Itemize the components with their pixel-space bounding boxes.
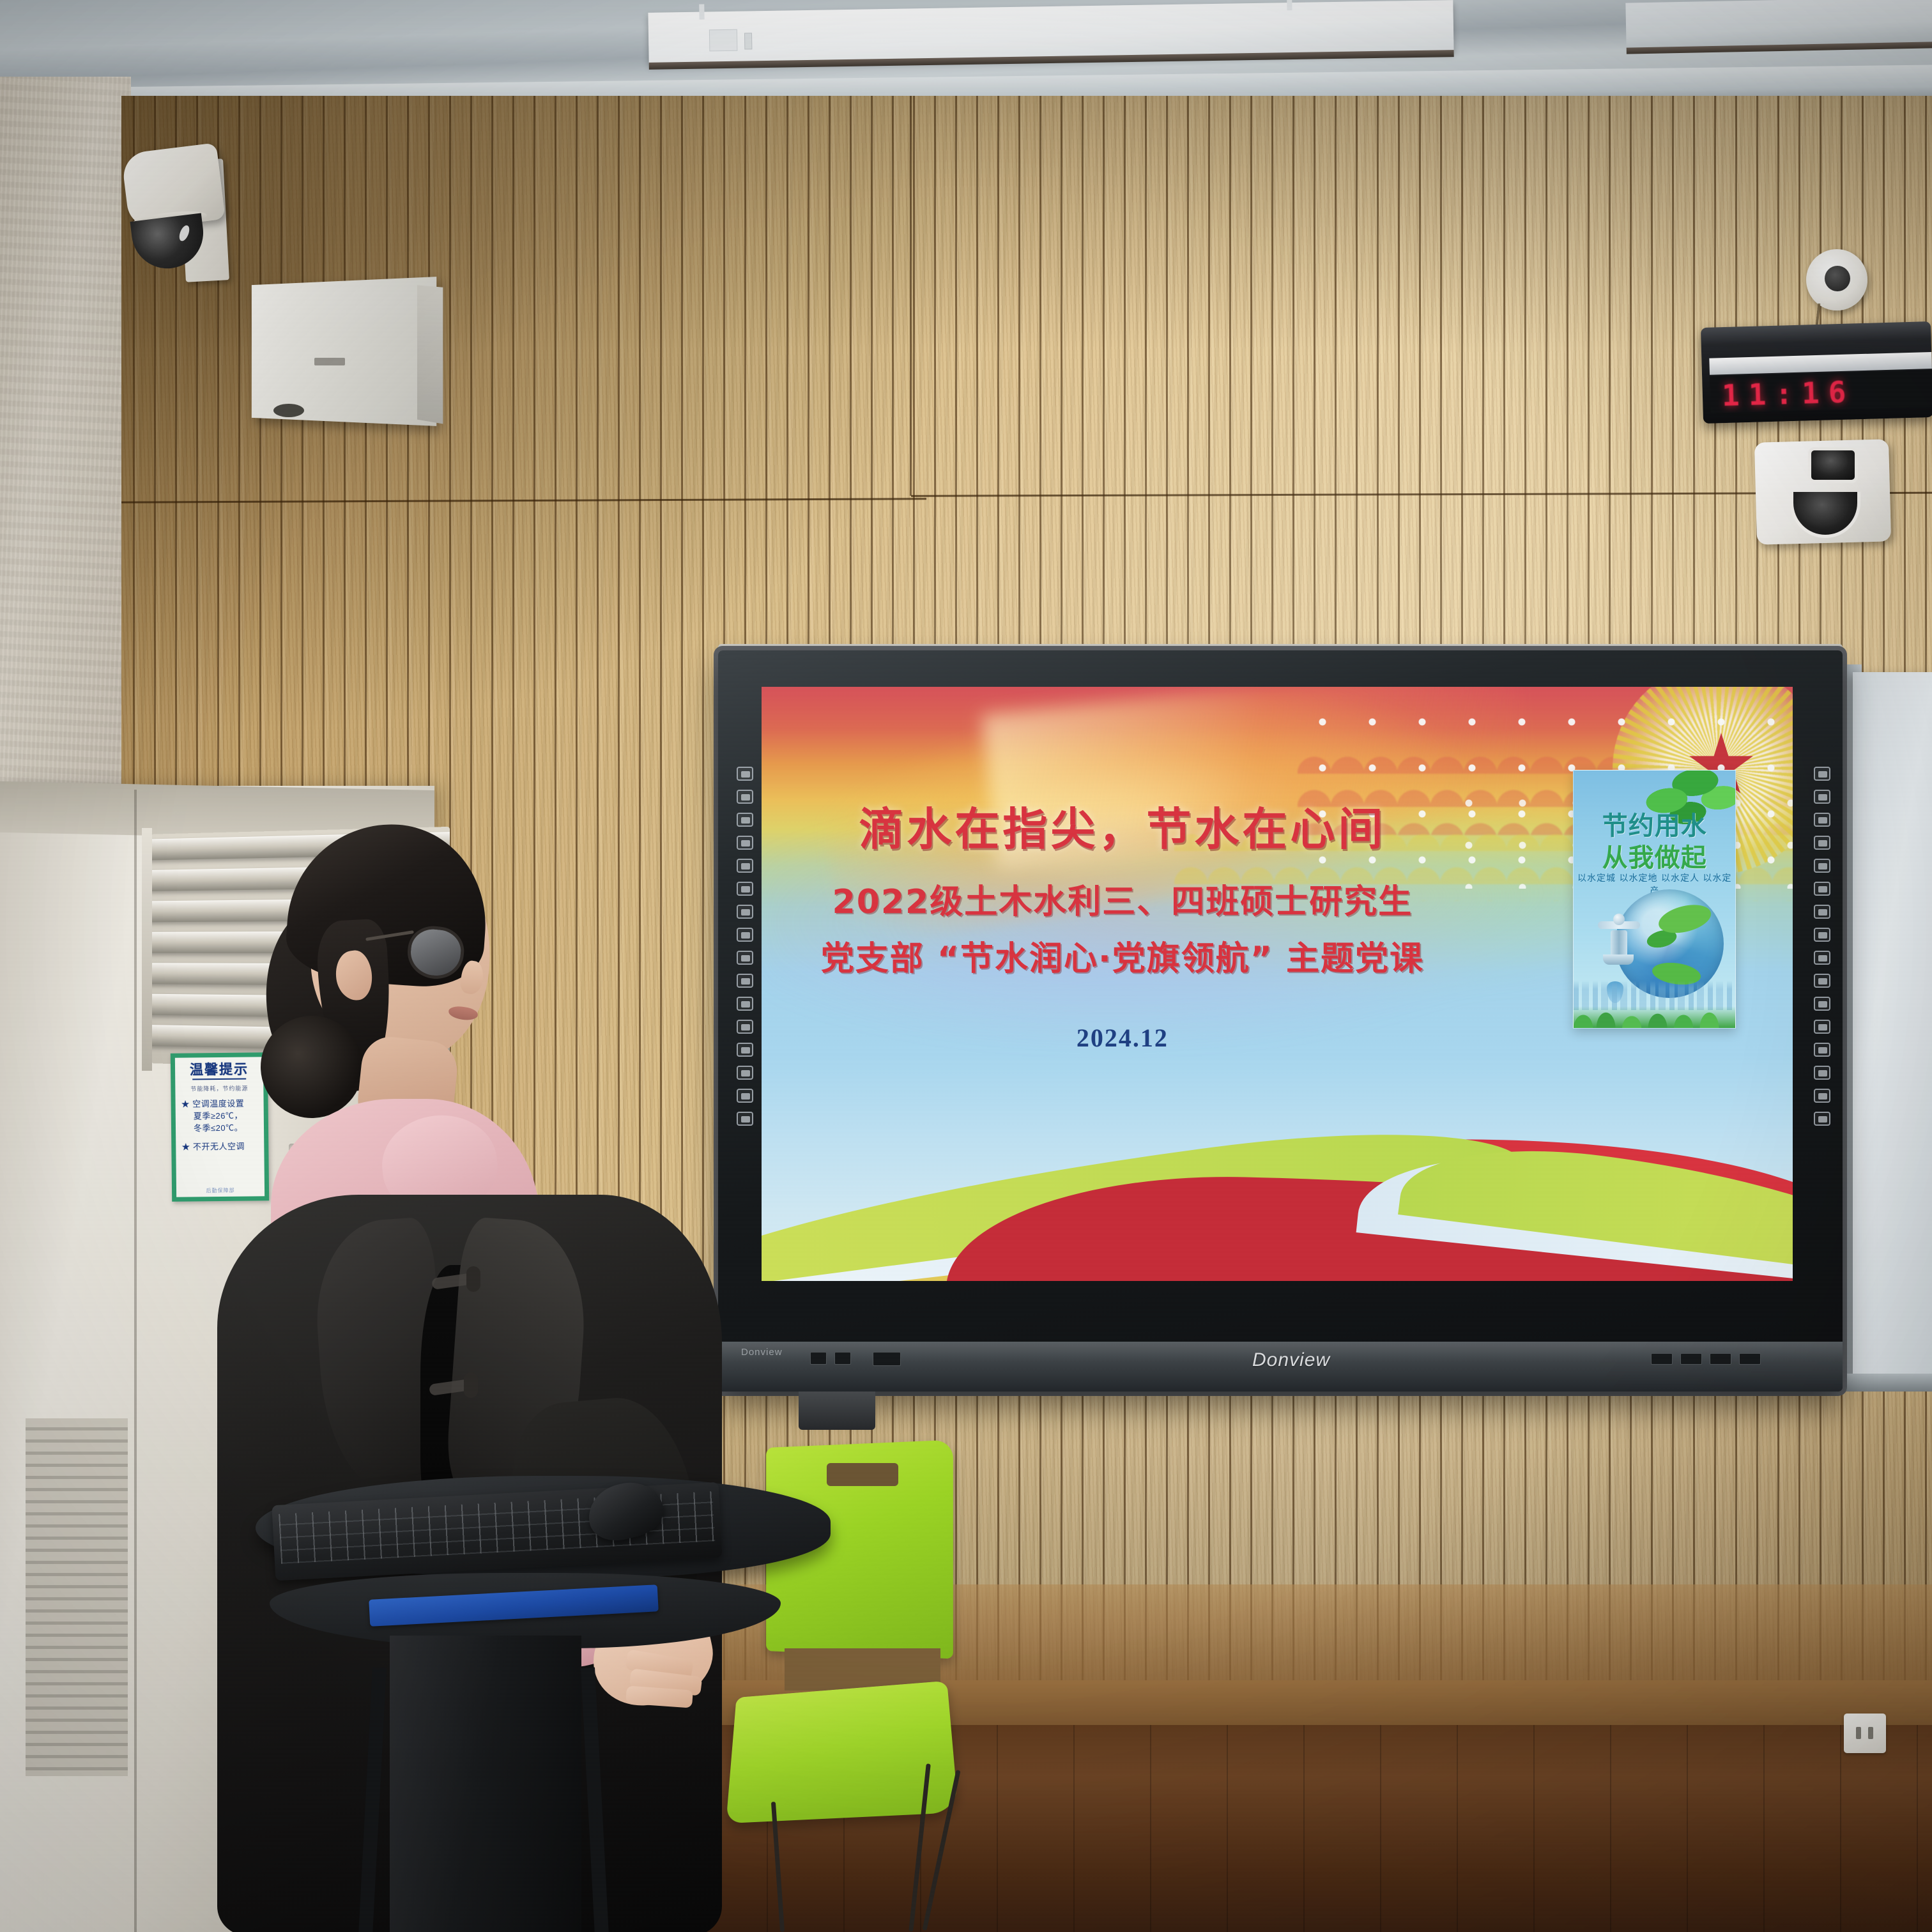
- lectern: [256, 1476, 843, 1932]
- board-port[interactable]: [873, 1352, 901, 1366]
- lectern-column: [390, 1636, 581, 1932]
- board-port[interactable]: [1710, 1353, 1731, 1365]
- tap-icon: [1599, 912, 1649, 974]
- classroom-scene: 11:16 Midea 温馨提示 节能降耗，节约能源 ★ 空调温度设置 夏季≥2…: [0, 0, 1932, 1932]
- speaker-side: [417, 285, 443, 424]
- board-port[interactable]: [1680, 1353, 1702, 1365]
- function-icon[interactable]: [1814, 974, 1830, 988]
- board-mount: [799, 1391, 875, 1430]
- function-icon[interactable]: [1814, 1020, 1830, 1034]
- function-icon[interactable]: [1814, 859, 1830, 873]
- air-conditioner-lower-grille: [26, 1418, 128, 1776]
- coat-toggle-knob: [466, 1266, 480, 1292]
- clock-time: 11:16: [1721, 374, 1855, 413]
- notice-divider: [192, 1078, 246, 1080]
- function-icon[interactable]: [1814, 905, 1830, 919]
- camera-lens-top: [1808, 447, 1858, 483]
- air-conditioner-frame: [142, 828, 152, 1071]
- air-conditioner-seam: [134, 790, 137, 1932]
- ceiling-light-fixture-right: [1625, 0, 1932, 49]
- fixture-sticker-small: [744, 33, 752, 49]
- board-port[interactable]: [1739, 1353, 1761, 1365]
- function-icon[interactable]: [1814, 1043, 1830, 1057]
- function-icon[interactable]: [1814, 997, 1830, 1011]
- slide-subtitle-line-2: 党支部 “节水润心·党旗领航” 主题党课: [792, 931, 1452, 979]
- slide-title: 滴水在指尖，节水在心间: [792, 793, 1452, 858]
- board-port[interactable]: [1651, 1353, 1673, 1365]
- digital-clock: 11:16: [1701, 321, 1932, 424]
- function-icon[interactable]: [1814, 1066, 1830, 1080]
- lectern-leg: [358, 1667, 387, 1932]
- board-brand-label: Donview: [1252, 1349, 1330, 1371]
- grass-icon: [1574, 1006, 1735, 1028]
- function-icon[interactable]: [1814, 836, 1830, 850]
- function-icon[interactable]: [1814, 928, 1830, 942]
- water-conservation-poster: 节约用水 从我做起 以水定城 以水定地 以水定人 以水定产: [1573, 770, 1736, 1029]
- board-display[interactable]: 滴水在指尖，节水在心间 2022级土木水利三、四班硕士研究生 党支部 “节水润心…: [762, 687, 1793, 1281]
- speaker-brand-label: [314, 358, 345, 365]
- fixture-sticker: [709, 29, 738, 52]
- power-outlet[interactable]: [1844, 1713, 1886, 1753]
- plaster-wall-left: [0, 77, 131, 843]
- whiteboard-tray: [1843, 1374, 1932, 1391]
- function-icon[interactable]: [737, 790, 753, 804]
- sliding-whiteboard[interactable]: [1853, 672, 1932, 1379]
- function-icon[interactable]: [1814, 813, 1830, 827]
- speaker-port: [273, 404, 304, 417]
- function-icon[interactable]: [1814, 882, 1830, 896]
- slide-date: 2024.12: [792, 1023, 1452, 1053]
- slide-text-block: 滴水在指尖，节水在心间 2022级土木水利三、四班硕士研究生 党支部 “节水润心…: [792, 793, 1452, 1053]
- function-icon[interactable]: [737, 767, 753, 781]
- function-icon[interactable]: [1814, 1089, 1830, 1103]
- coat-toggle-knob: [464, 1372, 478, 1398]
- function-icon[interactable]: [1814, 951, 1830, 965]
- poster-title-line-2: 从我做起: [1574, 837, 1735, 874]
- wall-speaker: [252, 277, 436, 426]
- slide-ribbon-group: [762, 1091, 1793, 1281]
- board-port[interactable]: [810, 1352, 827, 1365]
- function-icon[interactable]: [1814, 767, 1830, 781]
- function-icon[interactable]: [1814, 1112, 1830, 1126]
- slide-subtitle-line-1: 2022级土木水利三、四班硕士研究生: [792, 875, 1452, 923]
- board-port[interactable]: [834, 1352, 851, 1365]
- clock-screen: 11:16: [1710, 370, 1932, 413]
- board-bezel-right[interactable]: [1809, 767, 1835, 1126]
- function-icon[interactable]: [1814, 790, 1830, 804]
- lectern-leg: [581, 1667, 609, 1932]
- smoke-sensor-icon: [1806, 249, 1867, 310]
